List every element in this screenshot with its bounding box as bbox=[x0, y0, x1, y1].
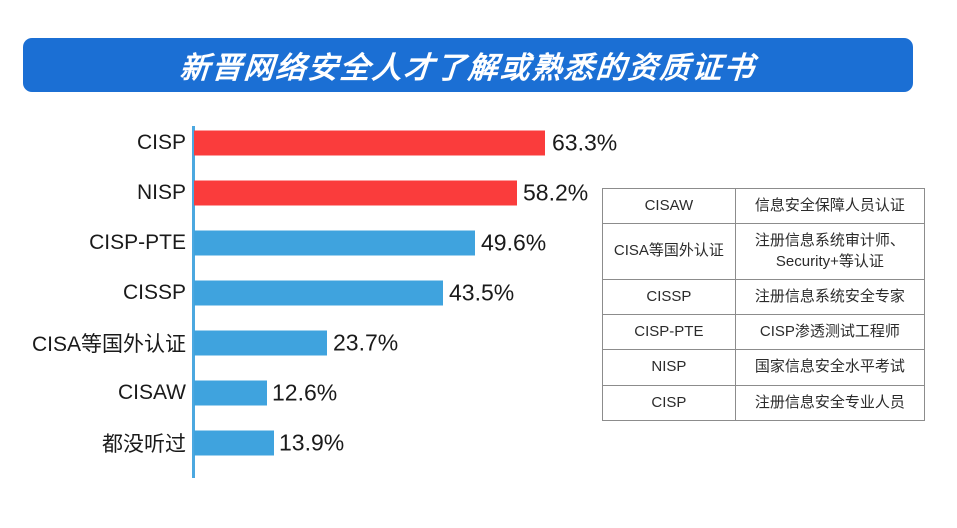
bar-value-label: 49.6% bbox=[481, 230, 546, 257]
bar-shape bbox=[194, 381, 267, 406]
table-cell-description: 信息安全保障人员认证 bbox=[735, 189, 924, 224]
bar-category-label: CISP bbox=[137, 131, 186, 155]
table-cell-code: CISP bbox=[603, 385, 736, 420]
title-banner: 新晋网络安全人才了解或熟悉的资质证书 bbox=[23, 38, 913, 92]
bar-shape bbox=[194, 331, 327, 356]
table-cell-description: 注册信息系统审计师、 Security+等认证 bbox=[735, 224, 924, 280]
bar-row: NISP 58.2% bbox=[0, 168, 590, 218]
bar-row: 都没听过 13.9% bbox=[0, 418, 590, 468]
bar-category-label: CISA等国外认证 bbox=[32, 328, 186, 358]
table-cell-description: 国家信息安全水平考试 bbox=[735, 350, 924, 385]
bar-chart: CISP 63.3% NISP 58.2% CISP-PTE 49.6% CIS… bbox=[0, 118, 590, 490]
bar-shape bbox=[194, 231, 475, 256]
table-row: CISA等国外认证 注册信息系统审计师、 Security+等认证 bbox=[603, 224, 925, 280]
bar-row: CISP-PTE 49.6% bbox=[0, 218, 590, 268]
table-cell-description: 注册信息系统安全专家 bbox=[735, 279, 924, 314]
table-cell-description: 注册信息安全专业人员 bbox=[735, 385, 924, 420]
bar-category-label: CISSP bbox=[123, 281, 186, 305]
bar-shape bbox=[194, 281, 443, 306]
bar-row: CISP 63.3% bbox=[0, 118, 590, 168]
table-cell-description: CISP渗透测试工程师 bbox=[735, 315, 924, 350]
bar-shape bbox=[194, 181, 517, 206]
table-cell-code: CISAW bbox=[603, 189, 736, 224]
table-row: CISAW 信息安全保障人员认证 bbox=[603, 189, 925, 224]
bar-value-label: 43.5% bbox=[449, 280, 514, 307]
bar-shape bbox=[194, 431, 274, 456]
table-row: NISP 国家信息安全水平考试 bbox=[603, 350, 925, 385]
bar-value-label: 13.9% bbox=[279, 430, 344, 457]
table-cell-description-line2: Security+等认证 bbox=[776, 253, 884, 270]
bar-row: CISSP 43.5% bbox=[0, 268, 590, 318]
bar-value-label: 58.2% bbox=[523, 180, 588, 207]
table-cell-code: CISSP bbox=[603, 279, 736, 314]
bar-category-label: CISAW bbox=[118, 381, 186, 405]
table-cell-code: CISP-PTE bbox=[603, 315, 736, 350]
table-cell-code: NISP bbox=[603, 350, 736, 385]
bar-value-label: 23.7% bbox=[333, 330, 398, 357]
bar-row: CISAW 12.6% bbox=[0, 368, 590, 418]
infographic-root: 新晋网络安全人才了解或熟悉的资质证书 CISP 63.3% NISP 58.2%… bbox=[0, 0, 957, 528]
bar-value-label: 63.3% bbox=[552, 130, 617, 157]
bar-category-label: 都没听过 bbox=[102, 428, 186, 458]
bar-shape bbox=[194, 131, 545, 156]
certification-glossary-table: CISAW 信息安全保障人员认证 CISA等国外认证 注册信息系统审计师、 Se… bbox=[602, 188, 925, 421]
table-cell-description-line1: 注册信息系统审计师、 bbox=[755, 232, 905, 249]
table-row: CISP 注册信息安全专业人员 bbox=[603, 385, 925, 420]
table-cell-code: CISA等国外认证 bbox=[603, 224, 736, 280]
bar-value-label: 12.6% bbox=[272, 380, 337, 407]
table-row: CISSP 注册信息系统安全专家 bbox=[603, 279, 925, 314]
page-title: 新晋网络安全人才了解或熟悉的资质证书 bbox=[178, 43, 757, 87]
bar-category-label: NISP bbox=[137, 181, 186, 205]
bar-row: CISA等国外认证 23.7% bbox=[0, 318, 590, 368]
table-row: CISP-PTE CISP渗透测试工程师 bbox=[603, 315, 925, 350]
bar-category-label: CISP-PTE bbox=[89, 231, 186, 255]
